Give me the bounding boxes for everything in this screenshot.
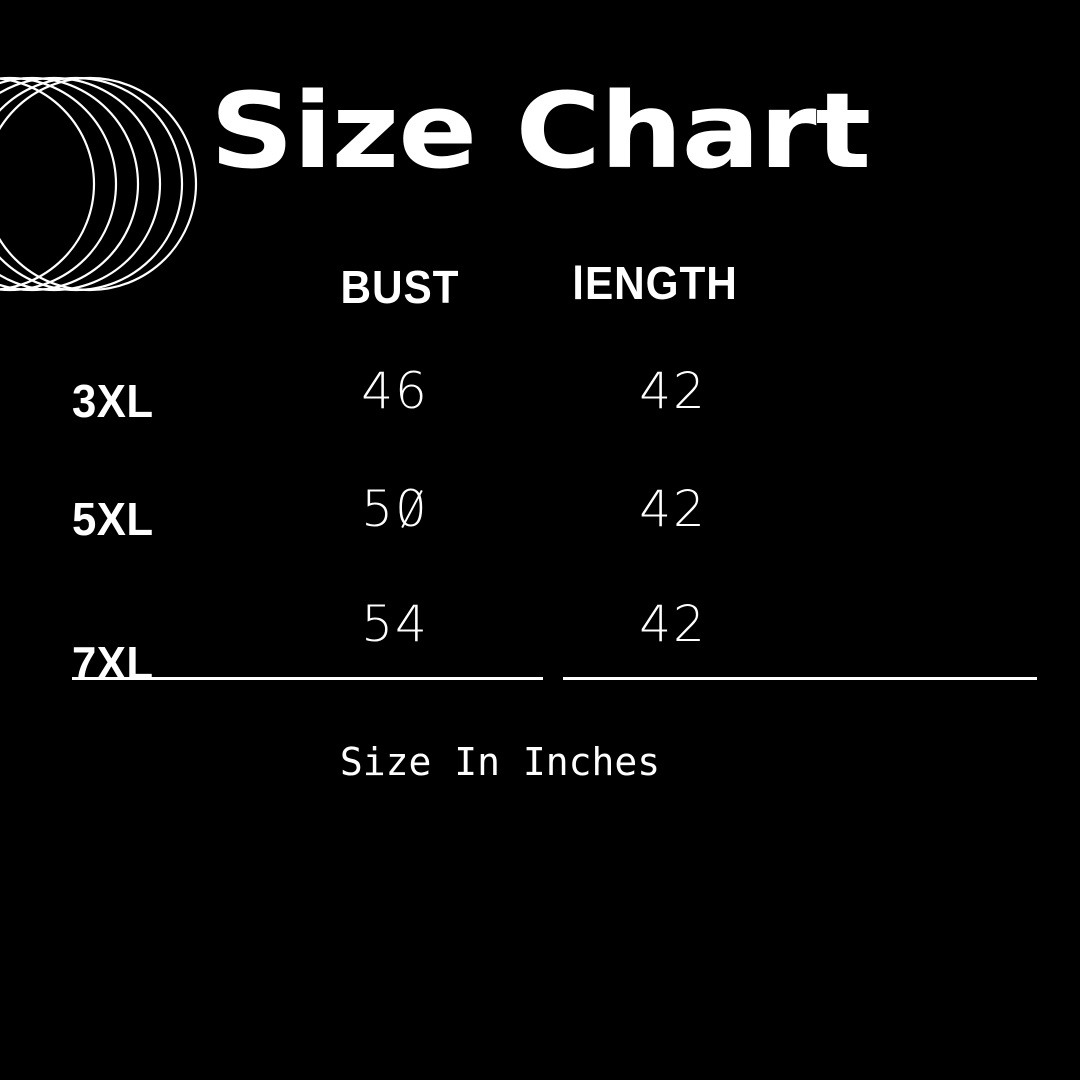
row-bust-value: 50 [270,481,520,537]
row-bust-value: 46 [270,363,520,419]
row-length-value: 42 [548,363,798,419]
row-length-value: 42 [548,596,798,652]
size-chart-canvas: Size Chart BUST lENGTH 3XL 46 42 5XL 50 … [0,0,1080,1080]
row-bust-value: 54 [270,596,520,652]
slashed-zero-glyph: 0 [395,481,429,537]
table-rule-right [563,677,1037,680]
row-size-label: 7XL [72,637,300,689]
table-row: 3XL 46 42 [0,355,1080,455]
row-size-label: 5XL [72,493,300,545]
table-row: 5XL 50 42 [0,473,1080,573]
table-rule-left [72,677,543,680]
row-size-label: 3XL [72,375,300,427]
column-header-length: lENGTH [531,258,779,308]
size-table: BUST lENGTH 3XL 46 42 5XL 50 42 7XL 54 4… [0,0,1080,1080]
zero-slash [401,490,422,528]
row-length-value: 42 [548,481,798,537]
unit-note: Size In Inches [250,738,750,786]
column-header-bust: BUST [280,262,519,312]
